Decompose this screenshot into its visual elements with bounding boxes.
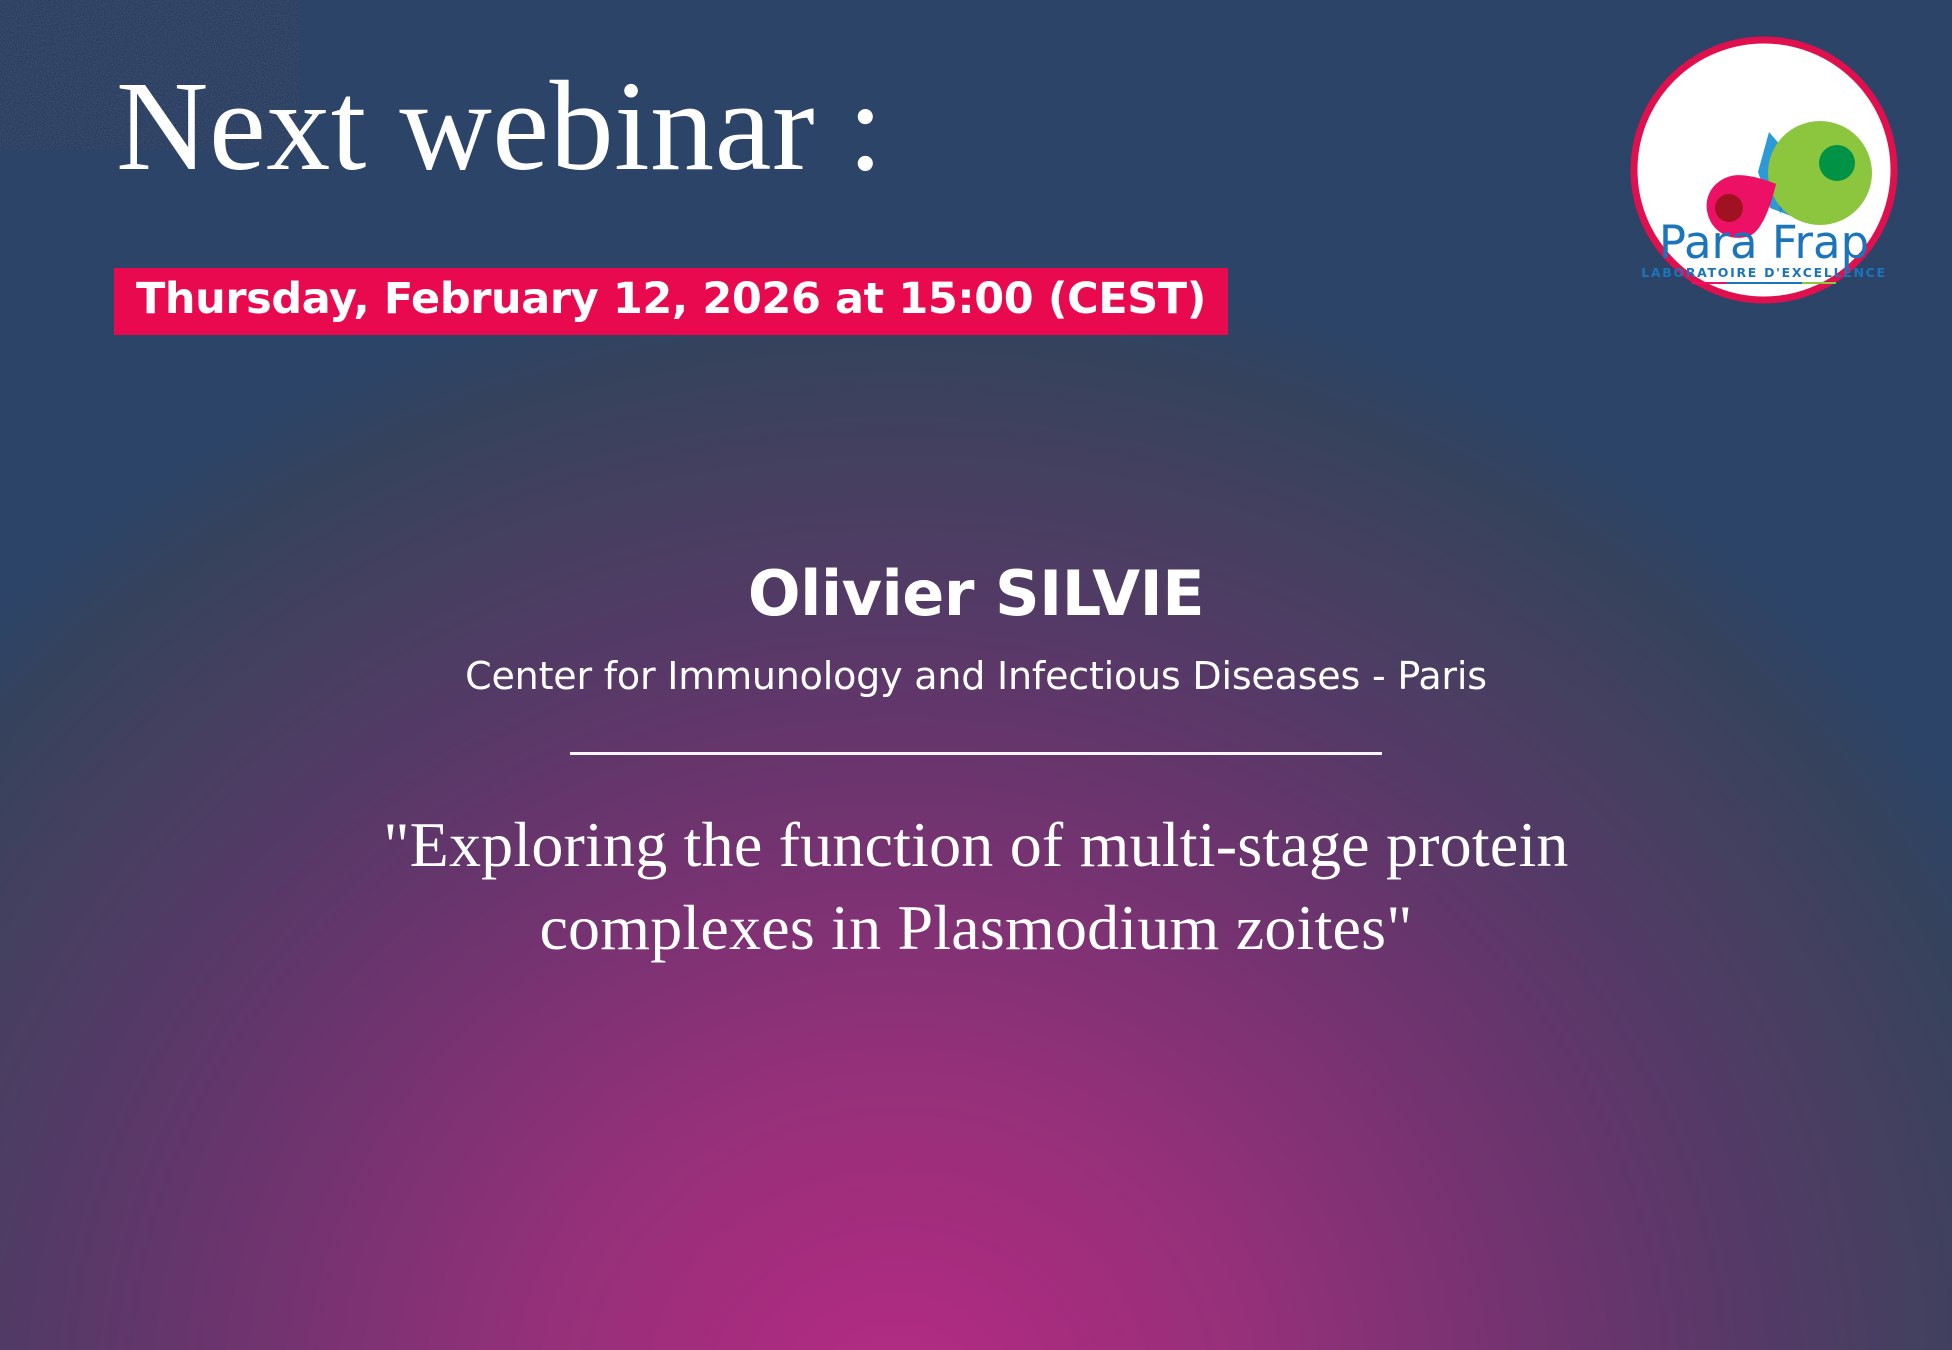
logo-wordmark: Para Frap (1659, 216, 1869, 269)
speaker-affiliation: Center for Immunology and Infectious Dis… (0, 654, 1952, 700)
divider-wrapper (0, 752, 1952, 755)
speaker-section: Olivier SILVIE Center for Immunology and… (0, 560, 1952, 969)
section-divider (570, 752, 1382, 755)
talk-title: "Exploring the function of multi-stage p… (266, 803, 1686, 969)
talk-title-line-1: "Exploring the function of multi-stage p… (266, 803, 1686, 886)
green-circle-shape (1768, 121, 1872, 225)
parafrap-logo: Para Frap LABORATOIRE D'EXCELLENCE (1630, 36, 1898, 304)
webinar-poster: Next webinar : Thursday, February 12, 20… (0, 0, 1952, 1350)
page-title: Next webinar : (116, 62, 884, 190)
date-banner-text: Thursday, February 12, 2026 at 15:00 (CE… (136, 277, 1206, 322)
green-dot-shape (1819, 145, 1855, 181)
speaker-name: Olivier SILVIE (0, 560, 1952, 628)
talk-title-line-2: complexes in Plasmodium zoites" (266, 886, 1686, 969)
logo-tagline: LABORATOIRE D'EXCELLENCE (1641, 265, 1887, 280)
date-banner: Thursday, February 12, 2026 at 15:00 (CE… (114, 268, 1228, 335)
